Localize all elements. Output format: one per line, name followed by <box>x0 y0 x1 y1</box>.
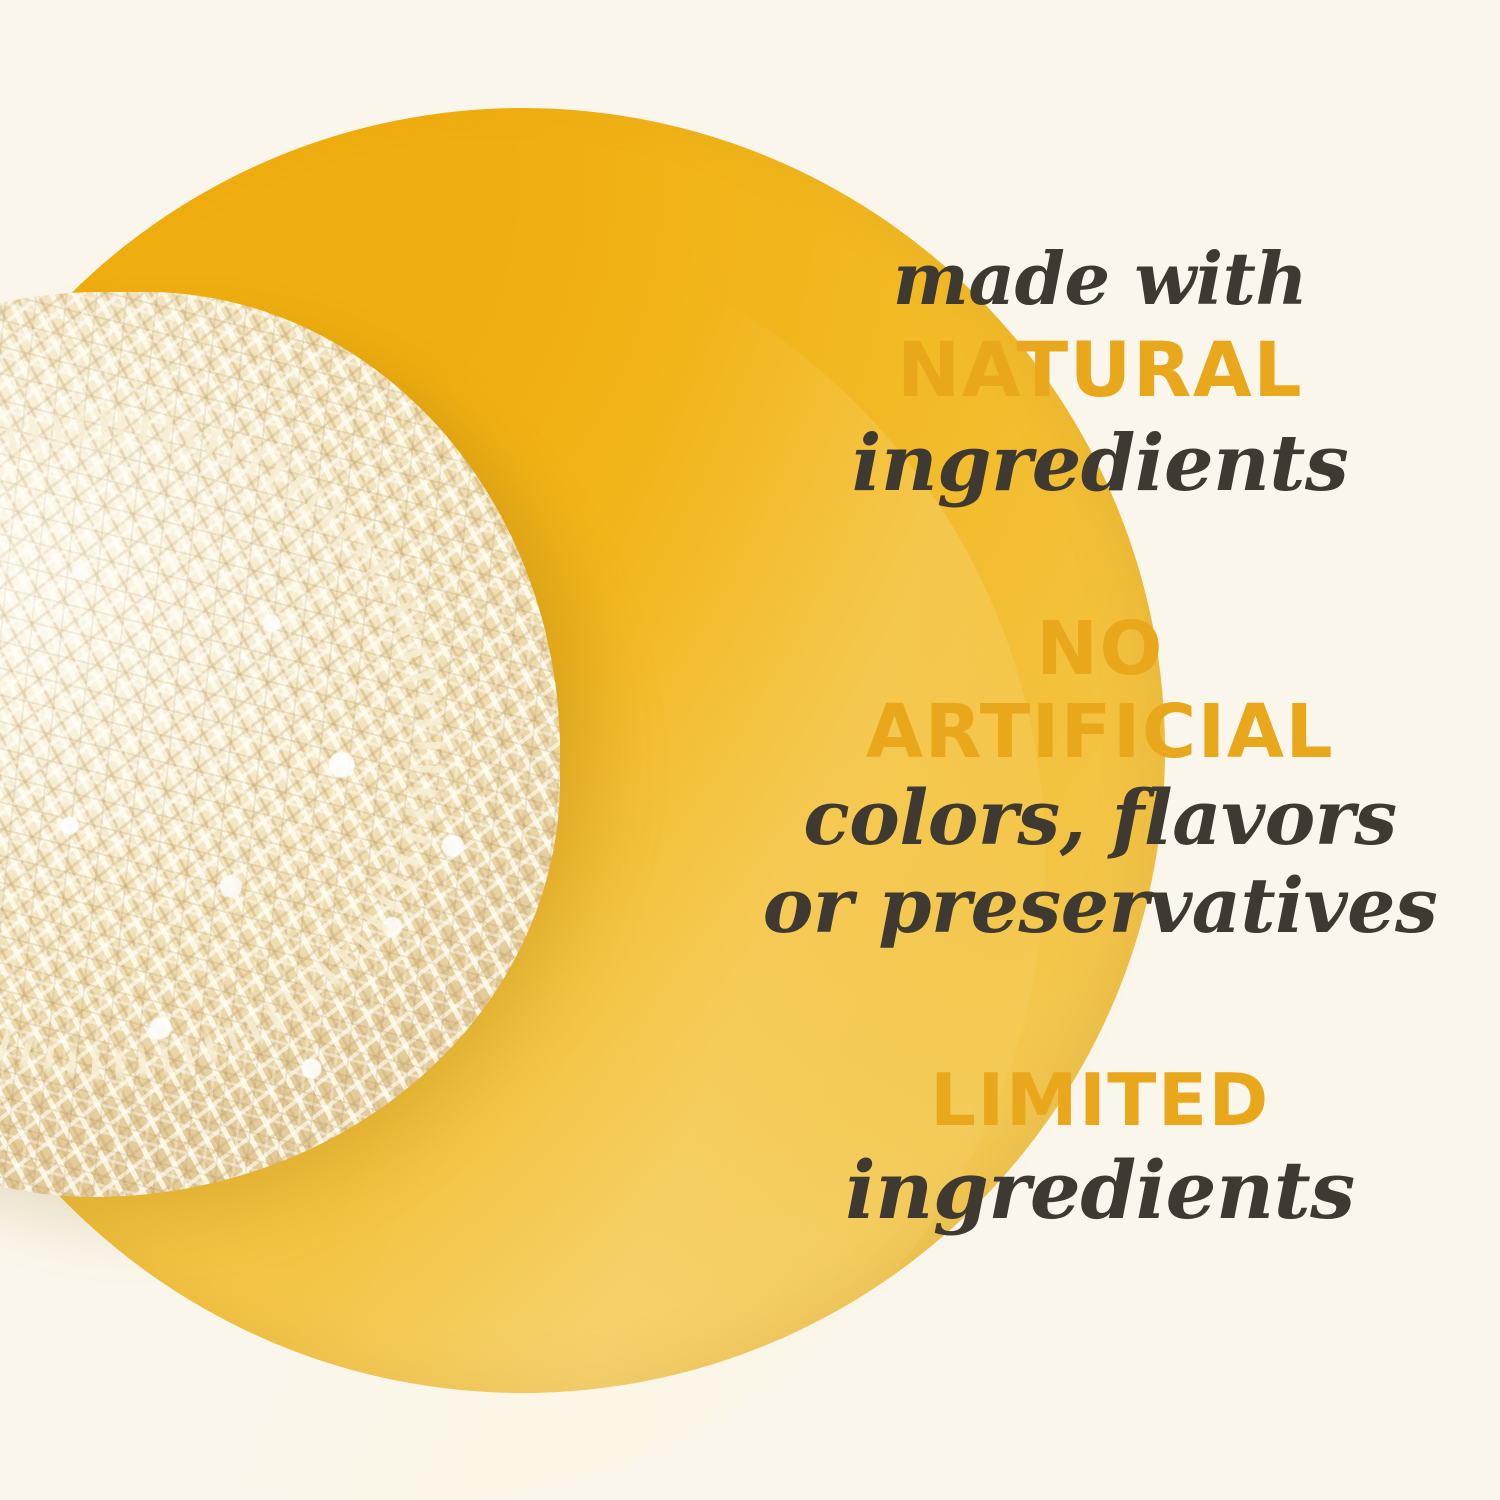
claim-1-line-1: made with <box>700 236 1500 322</box>
benefit-claims-column: made with NATURAL ingredients NO ARTIFIC… <box>700 0 1500 1500</box>
food-mound <box>0 292 560 1197</box>
claim-2-line-1-highlight: NO <box>700 608 1500 690</box>
claim-no-artificial-colors-flavors-preservatives: NO ARTIFICIAL colors, flavors or preserv… <box>700 608 1500 950</box>
claim-1-line-2-highlight: NATURAL <box>700 322 1500 418</box>
shredded-chicken-rice-food <box>0 292 560 1197</box>
claim-1-line-3: ingredients <box>700 418 1500 510</box>
claim-made-with-natural-ingredients: made with NATURAL ingredients <box>700 236 1500 510</box>
rice-grains-layer <box>0 292 560 1197</box>
claim-2-line-3: colors, flavors <box>700 774 1500 862</box>
claim-2-line-2-highlight: ARTIFICIAL <box>700 690 1500 774</box>
product-benefits-banner: made with NATURAL ingredients NO ARTIFIC… <box>0 0 1500 1500</box>
claim-2-line-4: or preservatives <box>700 862 1500 950</box>
claim-3-line-2: ingredients <box>700 1142 1500 1238</box>
claim-limited-ingredients: LIMITED ingredients <box>700 1058 1500 1238</box>
claim-3-line-1-highlight: LIMITED <box>700 1058 1500 1142</box>
